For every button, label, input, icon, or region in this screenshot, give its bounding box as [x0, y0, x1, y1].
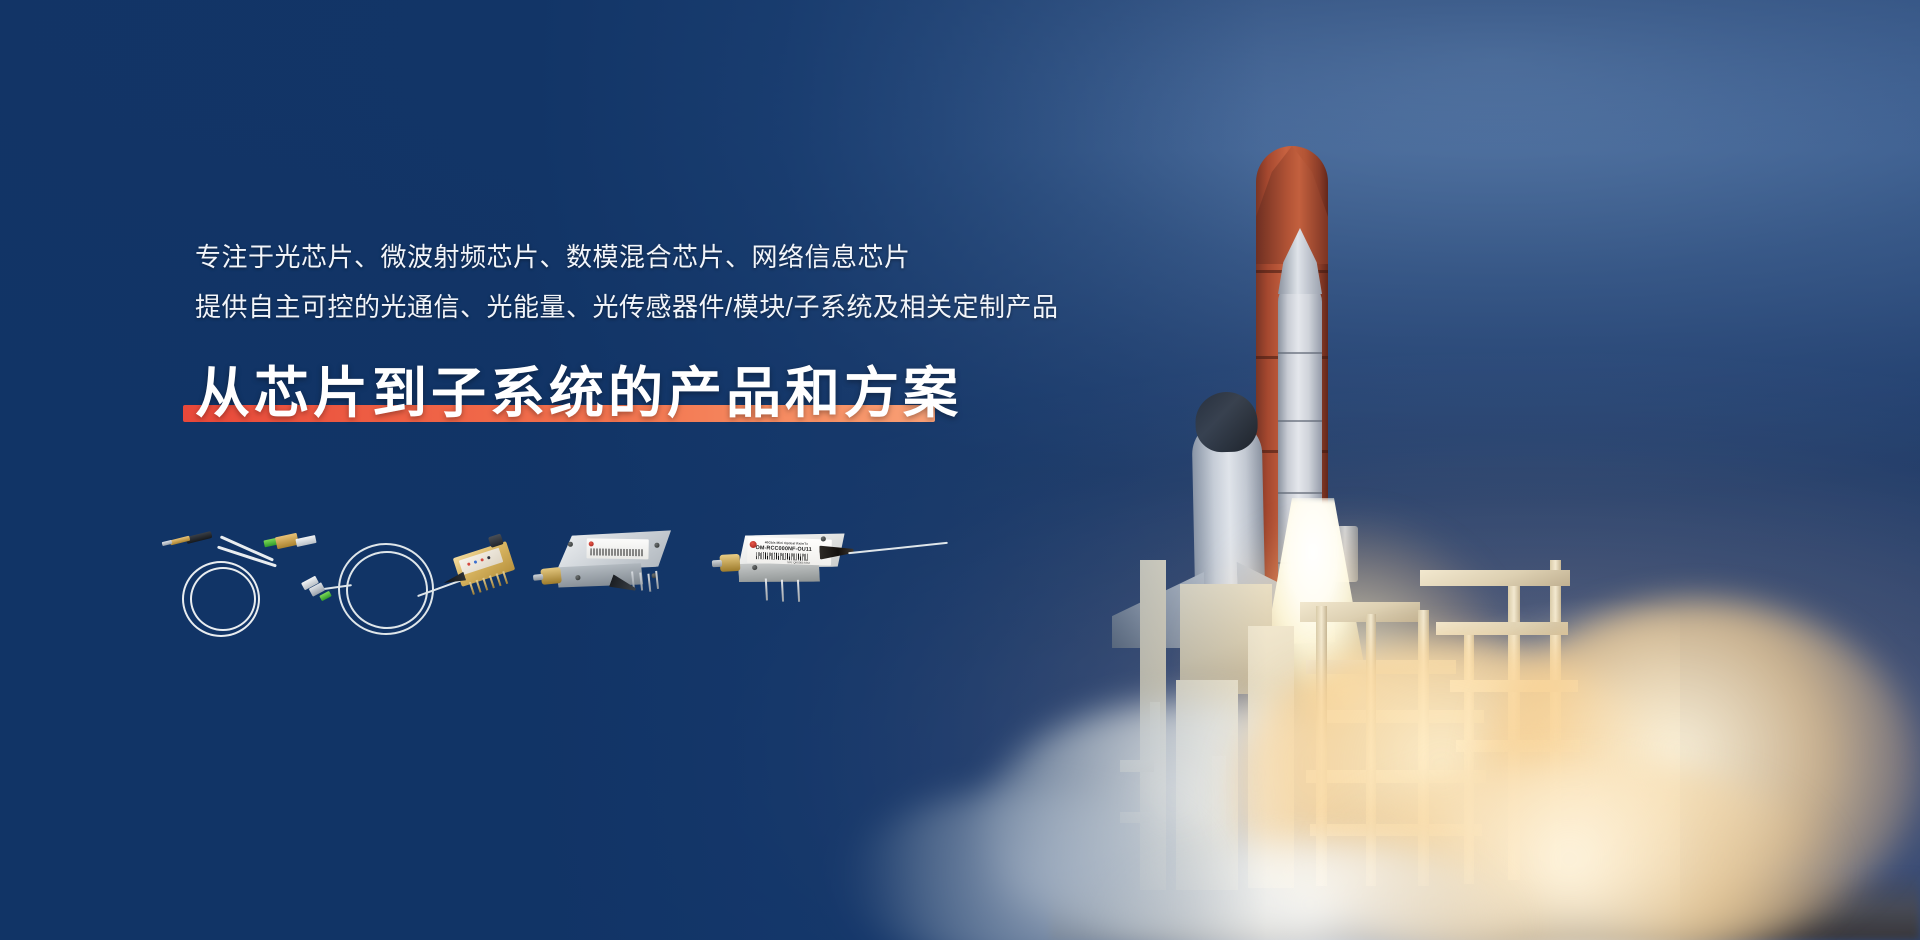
- booster-segment: [1278, 352, 1322, 354]
- booster-segment: [1278, 420, 1322, 422]
- subtitle-line-1: 专注于光芯片、微波射频芯片、数模混合芯片、网络信息芯片: [195, 232, 1195, 282]
- subtitle-line-2: 提供自主可控的光通信、光能量、光传感器件/模块/子系统及相关定制产品: [195, 282, 1195, 332]
- page-title: 从芯片到子系统的产品和方案: [195, 354, 962, 432]
- module-label: 40Gb/s Mini Optical Rx/mTx OM-RCC000NF-O…: [747, 537, 832, 566]
- hero-banner: 专注于光芯片、微波射频芯片、数模混合芯片、网络信息芯片 提供自主可控的光通信、光…: [0, 0, 1920, 940]
- headline-wrapper: 从芯片到子系统的产品和方案: [195, 354, 962, 432]
- module-label-serial: S/N: QK0001SSM: [787, 560, 810, 565]
- hero-copy: 专注于光芯片、微波射频芯片、数模混合芯片、网络信息芯片 提供自主可控的光通信、光…: [195, 232, 1195, 432]
- module-label-title: 40Gb/s Mini Optical Rx/mTx: [765, 540, 808, 546]
- product-photo-row: 40Gb/s Mini Optical Rx/mTx OM-RCC000NF-O…: [160, 525, 880, 655]
- butterfly-laser-package: [453, 541, 516, 587]
- rf-metal-module: [553, 525, 681, 599]
- left-blue-overlay: [0, 0, 1267, 940]
- optical-receiver-module: 40Gb/s Mini Optical Rx/mTx OM-RCC000NF-O…: [737, 530, 852, 594]
